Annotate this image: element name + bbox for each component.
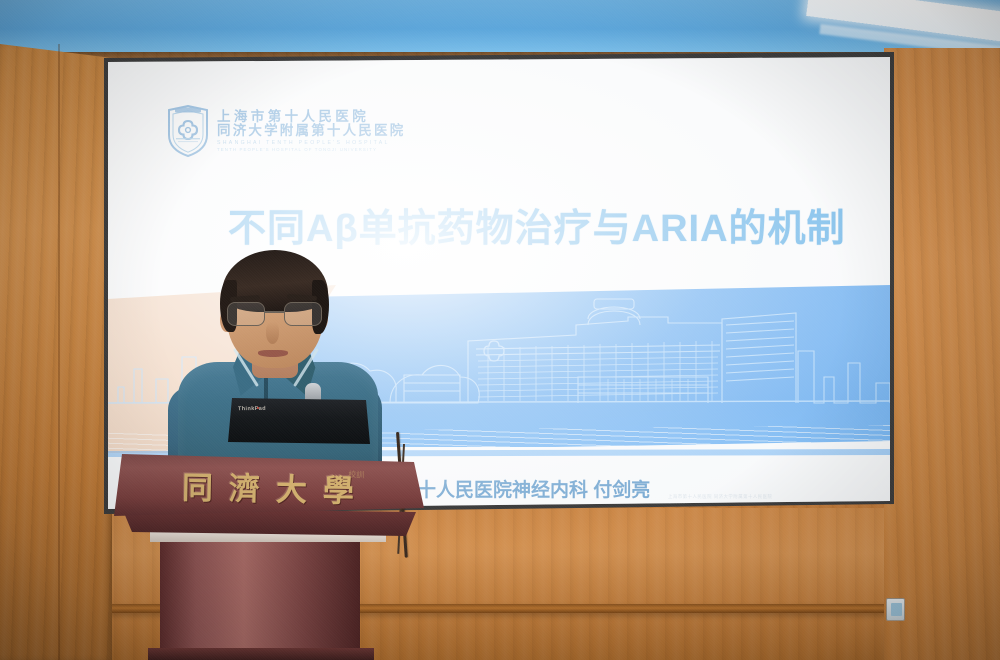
slide-title: 不同Aβ单抗药物治疗与ARIA的机制 bbox=[228, 197, 868, 252]
left-wall-wood-panel bbox=[0, 44, 112, 660]
speaker-person bbox=[166, 250, 390, 480]
podium-char-2: 濟 bbox=[229, 463, 261, 509]
podium-column bbox=[160, 540, 360, 660]
slide-hospital-logo: 上海市第十人民医院 同济大学附属第十人民医院 SHANGHAI TENTH PE… bbox=[166, 105, 405, 157]
right-wall-wood-panel bbox=[884, 48, 1000, 660]
laptop-brand-label: ThinkPad bbox=[238, 406, 266, 412]
logo-cn-line1: 上海市第十人民医院 bbox=[217, 110, 405, 124]
speaker-mouth bbox=[258, 350, 288, 357]
logo-en-line2: TENTH PEOPLE'S HOSPITAL OF TONGJI UNIVER… bbox=[217, 148, 405, 152]
podium-base bbox=[148, 648, 374, 660]
logo-cn-line2: 同济大学附属第十人民医院 bbox=[217, 124, 405, 138]
logo-en-line1: SHANGHAI TENTH PEOPLE'S HOSPITAL bbox=[217, 141, 405, 146]
podium-small-mark: 校訓 bbox=[348, 469, 403, 493]
hospital-shield-icon bbox=[166, 105, 210, 157]
podium-char-1: 同 bbox=[182, 462, 214, 508]
slide-footnote-line1: 上海市第十人民医院 同济大学附属第十人民医院 bbox=[668, 493, 868, 501]
glasses-bridge bbox=[265, 311, 284, 313]
wall-outlet-plate[interactable] bbox=[886, 598, 905, 621]
speaker-nose bbox=[266, 322, 279, 344]
glasses-lens-left bbox=[227, 302, 265, 326]
lectern-podium: 同 濟 大 學 校訓 bbox=[112, 448, 424, 660]
podium-char-3: 大 bbox=[276, 464, 308, 510]
left-wall-seam bbox=[58, 44, 60, 660]
glasses-lens-right bbox=[284, 302, 322, 326]
lecture-hall-photo: 上海市第十人民医院 同济大学附属第十人民医院 SHANGHAI TENTH PE… bbox=[0, 0, 1000, 660]
thinkpad-laptop[interactable]: ThinkPad bbox=[228, 398, 370, 444]
